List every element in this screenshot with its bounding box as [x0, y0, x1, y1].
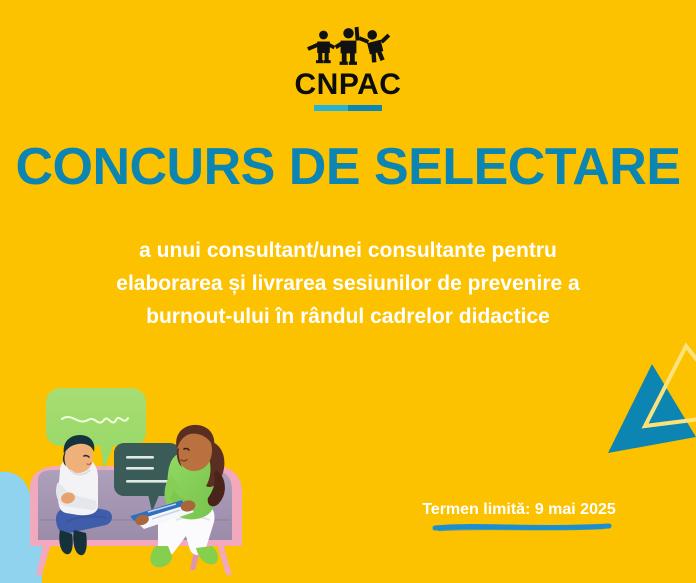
- green-bubble-tail: [100, 443, 114, 470]
- logo-wordmark: CNPAC: [0, 70, 696, 100]
- deadline-text: Termen limită: 9 mai 2025: [413, 500, 625, 520]
- outlined-triangle: [645, 346, 696, 426]
- dark-bubble-line-3: [126, 480, 170, 483]
- subtitle-line-1: a unui consultant/unei consultante pentr…: [60, 234, 636, 267]
- logo-underline-bar: [314, 105, 382, 111]
- triangles-svg: [600, 340, 696, 475]
- left-person-foot-1: [59, 530, 73, 554]
- poster-canvas: CNPAC CONCURS DE SELECTARE a unui consul…: [0, 0, 696, 583]
- left-person-foot-2: [73, 530, 87, 555]
- right-person-shoe-2: [196, 546, 218, 564]
- deadline-block: Termen limită: 9 mai 2025: [413, 500, 625, 532]
- logo-bar-left: [314, 105, 348, 111]
- page-title: CONCURS DE SELECTARE: [0, 140, 696, 195]
- subtitle-line-3: burnout-ului în rândul cadrelor didactic…: [60, 300, 636, 333]
- decorative-triangles: [600, 340, 696, 475]
- logo-block: CNPAC: [0, 24, 696, 111]
- three-children-icon: [303, 24, 393, 66]
- logo-bar-right: [348, 105, 382, 111]
- subtitle-line-2: elaborarea și livrarea sesiunilor de pre…: [60, 267, 636, 300]
- deadline-underline-stroke: [413, 522, 625, 532]
- dark-bubble-line-1: [126, 456, 154, 459]
- counseling-session-illustration: [0, 370, 258, 583]
- filled-triangle: [608, 364, 696, 453]
- green-speech-bubble: [46, 388, 146, 446]
- right-person-shoe-1: [150, 546, 172, 567]
- dark-bubble-line-2: [126, 467, 154, 470]
- subtitle-block: a unui consultant/unei consultante pentr…: [60, 234, 636, 333]
- illustration-svg: [0, 370, 258, 583]
